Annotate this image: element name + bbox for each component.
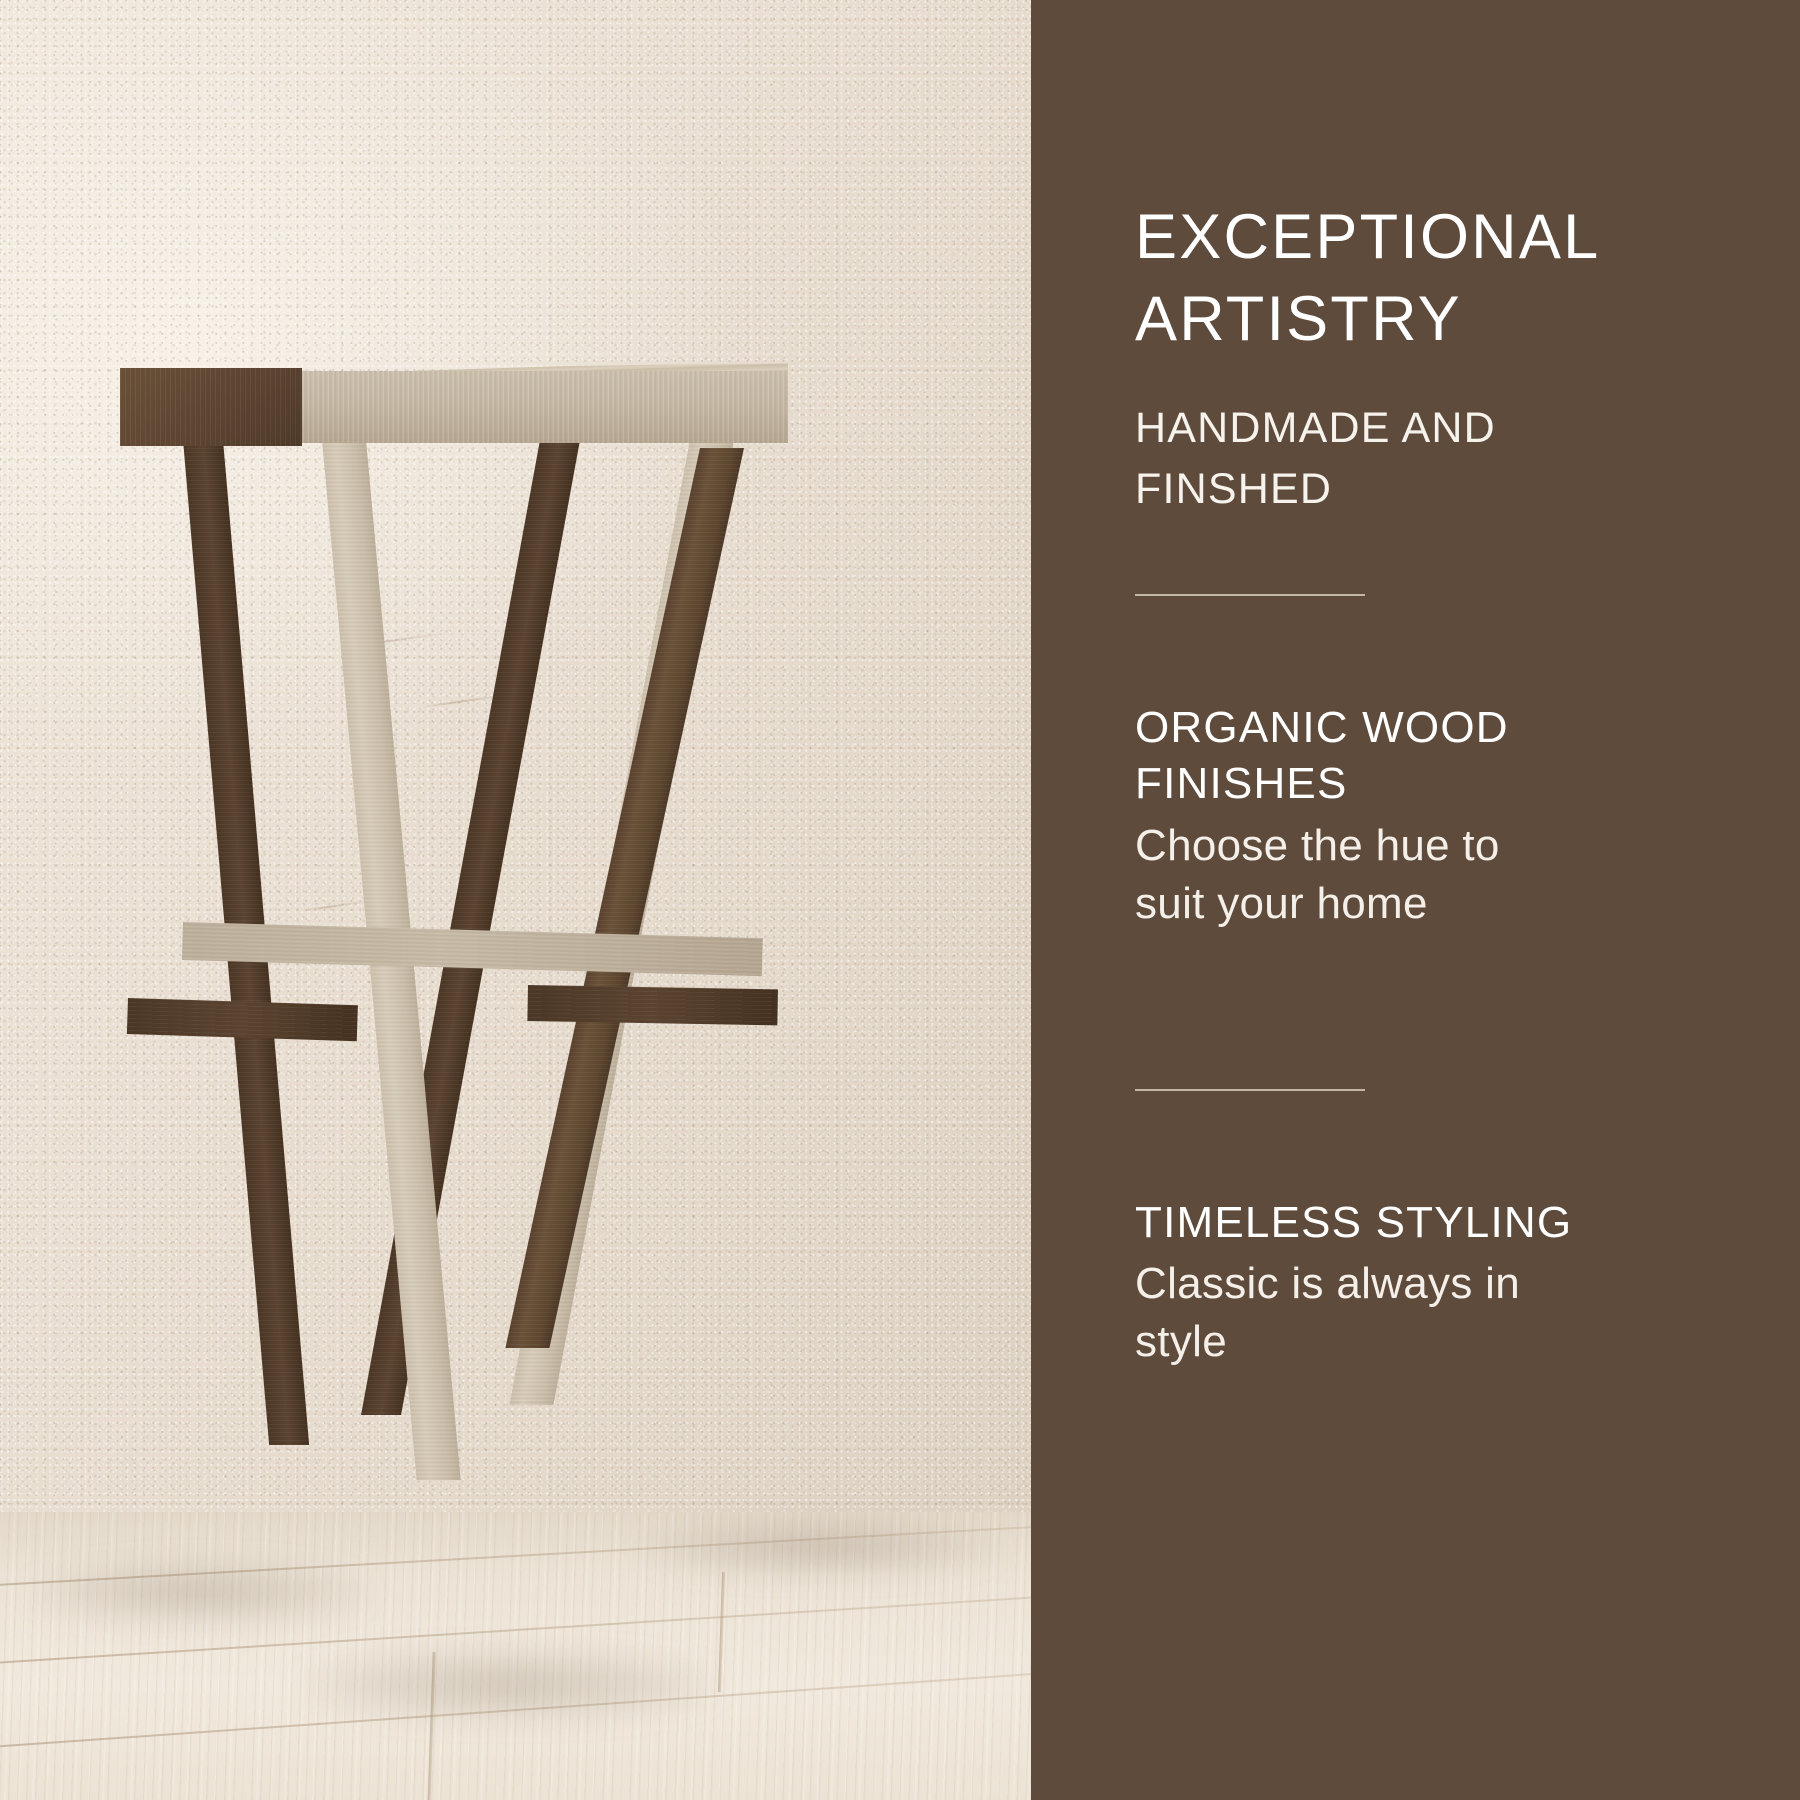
feature-title: TIMELESS STYLING	[1135, 1195, 1735, 1251]
feature-block-timeless-styling: TIMELESS STYLING Classic is always in st…	[1135, 1195, 1735, 1371]
right-side-stretcher-dark	[527, 985, 778, 1025]
product-feature-card: EXCEPTIONAL ARTISTRY HANDMADE AND FINSHE…	[0, 0, 1800, 1800]
feature-block-organic-wood-finishes: ORGANIC WOOD FINISHES Choose the hue to …	[1135, 700, 1735, 933]
seat-dark-end-cap	[120, 368, 302, 446]
feature-body: Choose the hue to suit your home	[1135, 817, 1735, 933]
feature-body: Classic is always in style	[1135, 1255, 1735, 1371]
left-side-stretcher-dark	[127, 998, 358, 1041]
divider-rule-2	[1135, 1089, 1365, 1091]
copy-panel: EXCEPTIONAL ARTISTRY HANDMADE AND FINSHE…	[1031, 0, 1800, 1800]
headline: EXCEPTIONAL ARTISTRY	[1135, 197, 1735, 361]
leg-shadow	[300, 1650, 720, 1720]
feature-title: ORGANIC WOOD FINISHES	[1135, 700, 1735, 813]
divider-rule-1	[1135, 594, 1365, 596]
product-photo	[0, 0, 1031, 1800]
subheadline: HANDMADE AND FINSHED	[1135, 398, 1655, 520]
leg-shadow	[640, 1520, 1000, 1575]
leg-shadow	[30, 1562, 370, 1622]
